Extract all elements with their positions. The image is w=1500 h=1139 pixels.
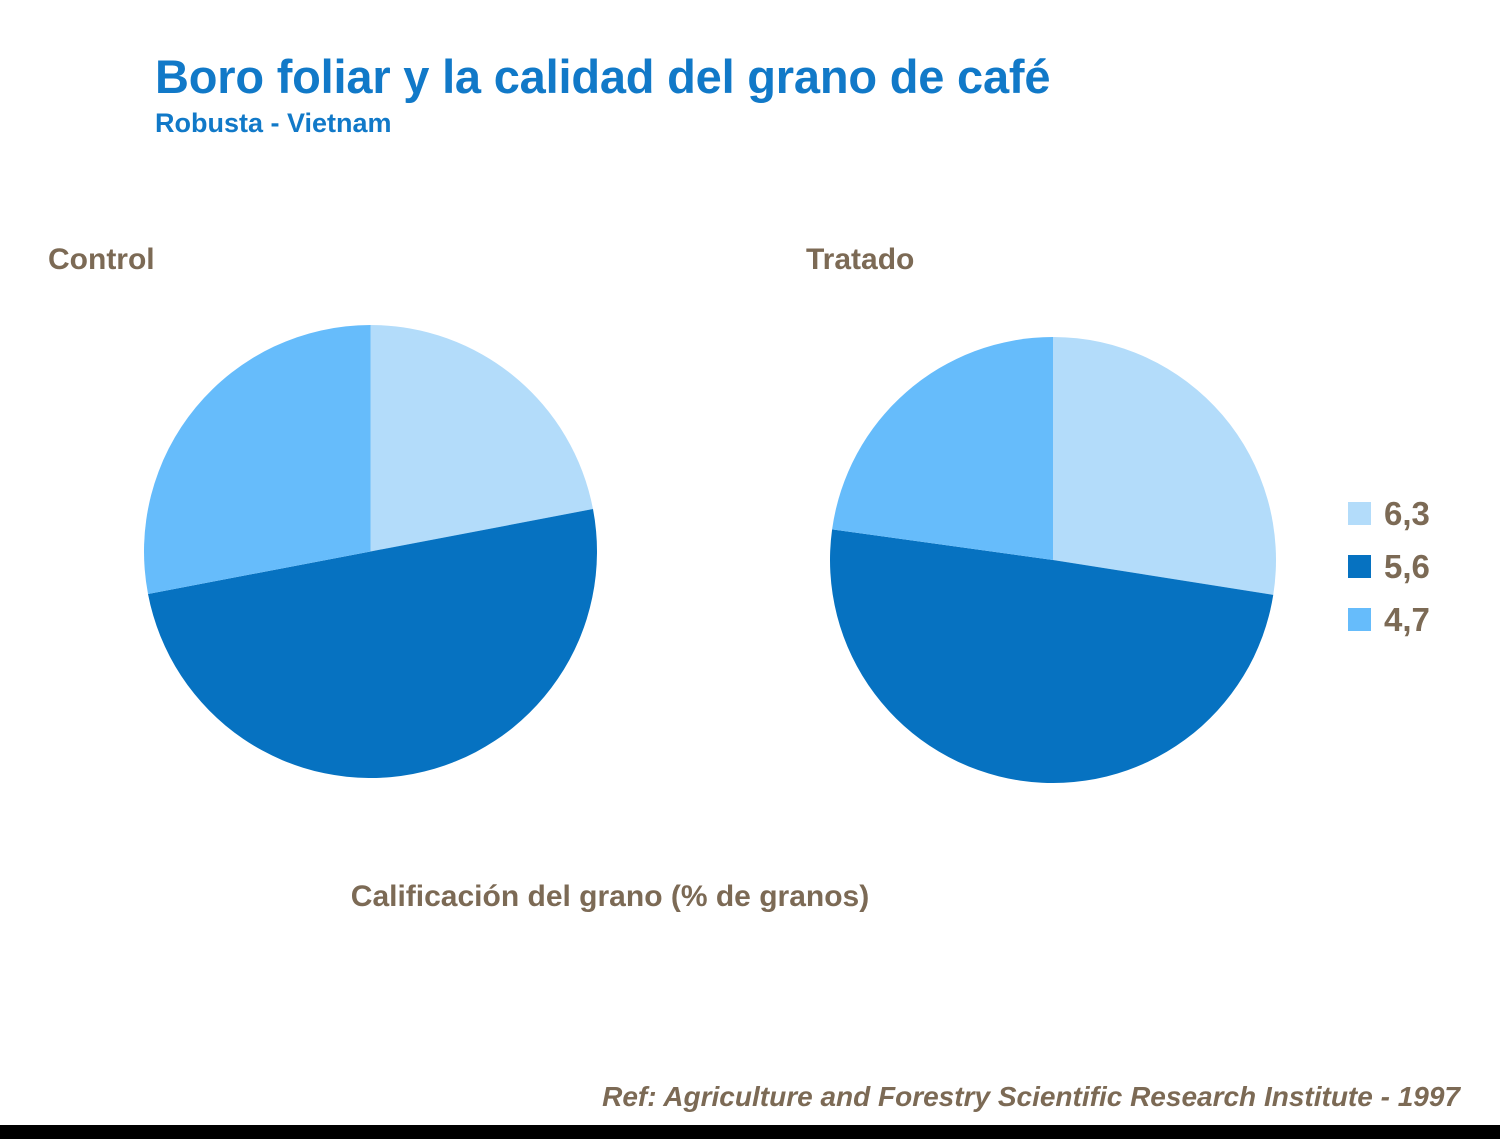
bottom-bar — [0, 1125, 1500, 1139]
slide-canvas: Boro foliar y la calidad del grano de ca… — [0, 0, 1500, 1139]
pie-slice-control-2[interactable] — [144, 325, 371, 594]
legend-label-2: 4,7 — [1384, 603, 1430, 636]
legend-label-1: 5,6 — [1384, 550, 1430, 583]
panel-label-control: Control — [48, 243, 155, 277]
pie-slice-tratado-0[interactable] — [1053, 337, 1276, 595]
legend-label-0: 6,3 — [1384, 497, 1430, 530]
legend: 6,3 5,6 4,7 — [1348, 487, 1430, 646]
page-title: Boro foliar y la calidad del grano de ca… — [155, 52, 1355, 102]
panel-label-tratado: Tratado — [806, 243, 914, 277]
page-subtitle: Robusta - Vietnam — [155, 109, 1355, 137]
pie-chart-tratado — [830, 337, 1276, 783]
legend-swatch-icon-1 — [1348, 555, 1371, 578]
legend-item-2[interactable]: 4,7 — [1348, 593, 1430, 646]
pie-slice-tratado-2[interactable] — [832, 337, 1053, 560]
axis-caption: Calificación del grano (% de granos) — [0, 880, 1500, 914]
pie-slices-tratado — [830, 337, 1276, 783]
legend-swatch-icon-0 — [1348, 502, 1371, 525]
title-block: Boro foliar y la calidad del grano de ca… — [155, 52, 1355, 137]
legend-item-1[interactable]: 5,6 — [1348, 540, 1430, 593]
pie-svg-control — [144, 325, 597, 778]
pie-svg-tratado — [830, 337, 1276, 783]
legend-swatch-icon-2 — [1348, 608, 1371, 631]
pie-chart-control — [144, 325, 597, 778]
legend-item-0[interactable]: 6,3 — [1348, 487, 1430, 540]
reference-note: Ref: Agriculture and Forestry Scientific… — [602, 1081, 1460, 1113]
pie-slices-control — [144, 325, 597, 778]
